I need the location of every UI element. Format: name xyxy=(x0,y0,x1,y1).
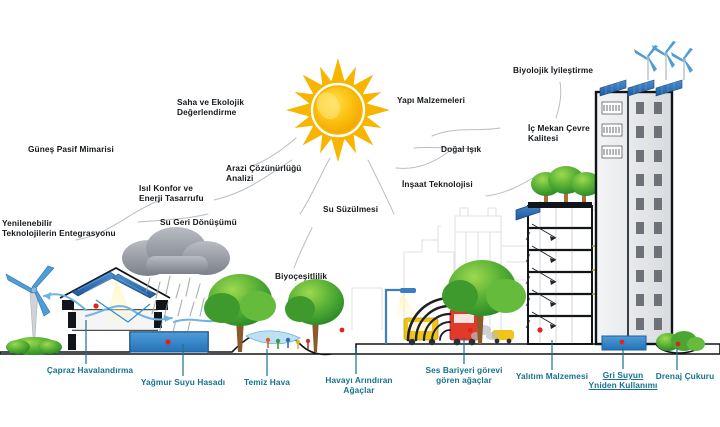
green-roof-trees xyxy=(528,166,601,208)
callout-yagmur-suyu-hasadi: Yağmur Suyu Hasadı xyxy=(135,378,231,388)
callout-isil-konfor: Isıl Konfor ve Enerji Tasarrufu xyxy=(139,184,204,204)
callout-arazi-cozunurlugu-analizi: Arazi Çözünürlüğü Analizi xyxy=(226,164,301,184)
drainage-pit xyxy=(656,331,705,353)
high-rise-tower xyxy=(596,41,693,344)
infographic-canvas: Güneş Pasif MimarisiYenilenebilir Teknol… xyxy=(0,0,720,427)
callout-gunes-pasif-mimarisi: Güneş Pasif Mimarisi xyxy=(28,145,114,155)
callout-capraz-havalandirma: Çapraz Havalandırma xyxy=(36,366,144,376)
callout-su-geri-donusumu: Su Geri Dönüşümü xyxy=(160,218,237,228)
callout-biyolojik-iyilestirme: Biyolojik İyileştirme xyxy=(513,66,593,76)
callout-drenaj-cukuru: Drenaj Çukuru xyxy=(650,372,720,382)
callout-saha-ve-ekolojik-degerlendirme: Saha ve Ekolojik Değerlendirme xyxy=(177,98,244,118)
callout-dogal-isik: Doğal Işık xyxy=(441,145,481,155)
callout-ses-bariyeri-agaclar: Ses Bariyeri görevi gören ağaçlar xyxy=(417,366,511,386)
callout-biyocesitlilik: Biyoçeşitlilik xyxy=(275,272,327,282)
callout-ic-mekan-cevre-kalitesi: İç Mekan Çevre Kalitesi xyxy=(528,124,590,144)
callout-insaat-teknolojisi: İnşaat Teknolojisi xyxy=(402,180,473,190)
callout-yalitim-malzemesi: Yalıtım Malzemesi xyxy=(508,372,596,382)
callout-yenilenebilir-teknolojiler: Yenilenebilir Teknolojilerin Entegrasyon… xyxy=(2,219,116,239)
callout-yapi-malzemeleri: Yapı Malzemeleri xyxy=(397,96,465,106)
callout-gri-suyun-yeniden-kullanimi: Gri Suyun Yniden Kullanımı xyxy=(588,371,658,391)
street-vehicles xyxy=(404,310,514,345)
wind-turbine-large xyxy=(6,266,62,355)
callout-temiz-hava: Temiz Hava xyxy=(236,378,298,388)
rooftop-wind-turbines xyxy=(634,41,693,80)
sun-icon xyxy=(267,39,408,180)
greywater-tank xyxy=(602,336,646,350)
callout-su-suzulmesi: Su Süzülmesi xyxy=(323,205,378,215)
callout-havayi-arindiran-agaclar: Havayı Arındıran Ağaçlar xyxy=(318,376,400,396)
